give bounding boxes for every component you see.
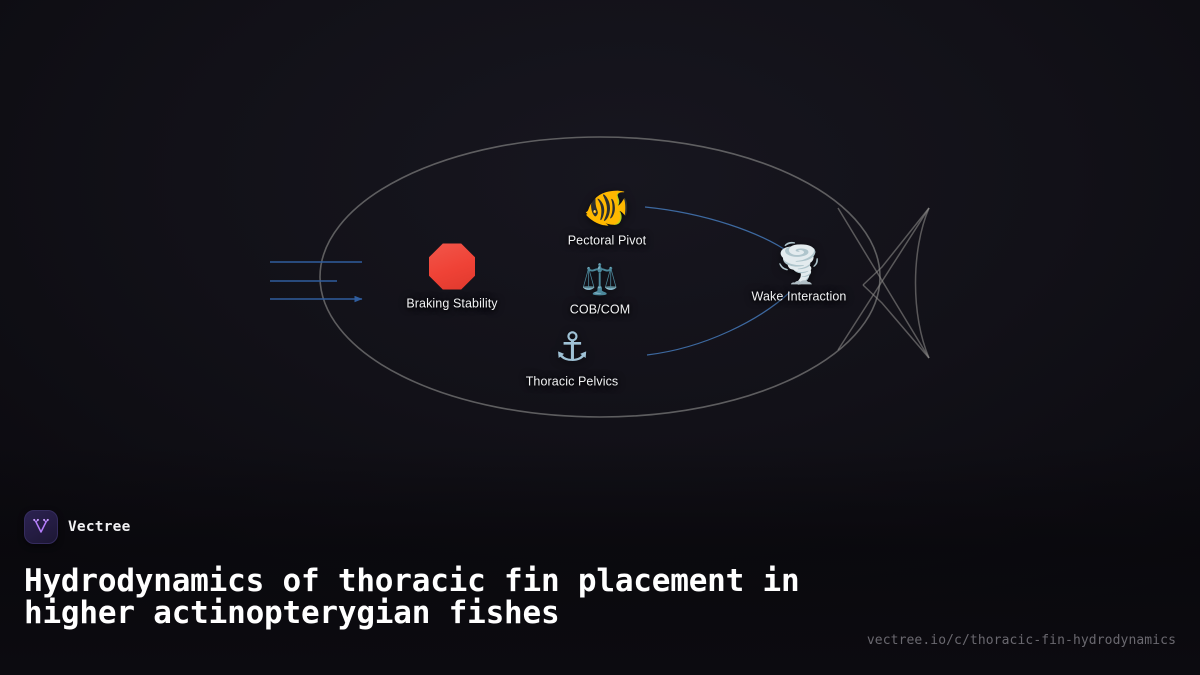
diagram-node-wake-interaction[interactable]: 🌪️ Wake Interaction [714,245,884,304]
node-label-braking-stability: Braking Stability [406,297,497,311]
slide-footer: Vectree Hydrodynamics of thoracic fin pl… [0,490,1200,675]
diagram-node-cob-com[interactable]: ⚖️ COB/COM [515,266,685,317]
tornado-icon: 🌪️ [775,245,822,283]
diagram-node-braking-stability[interactable]: Braking Stability [367,244,537,311]
node-label-thoracic-pelvics: Thoracic Pelvics [526,375,619,389]
brand-name: Vectree [68,519,131,535]
fish-hydrodynamics-diagram: Braking Stability 🐠 Pectoral Pivot ⚖️ CO… [0,0,1200,470]
source-url: vectree.io/c/thoracic-fin-hydrodynamics [867,633,1176,648]
balance-scale-icon: ⚖️ [581,266,618,296]
node-label-pectoral-pivot: Pectoral Pivot [568,234,647,248]
tropical-fish-icon: 🐠 [583,189,630,227]
diagram-node-pectoral-pivot[interactable]: 🐠 Pectoral Pivot [522,189,692,248]
brand[interactable]: Vectree [24,510,131,544]
stop-sign-icon [429,244,475,290]
vectree-logo-icon [24,510,58,544]
tail-trailing-edge [916,208,930,358]
anchor-icon: ⚓ [554,328,590,368]
page-title: Hydrodynamics of thoracic fin placement … [24,565,834,629]
diagram-node-thoracic-pelvics[interactable]: ⚓ Thoracic Pelvics [487,328,657,389]
node-label-cob-com: COB/COM [570,303,630,317]
node-label-wake-interaction: Wake Interaction [752,290,847,304]
slide-canvas: Braking Stability 🐠 Pectoral Pivot ⚖️ CO… [0,0,1200,675]
